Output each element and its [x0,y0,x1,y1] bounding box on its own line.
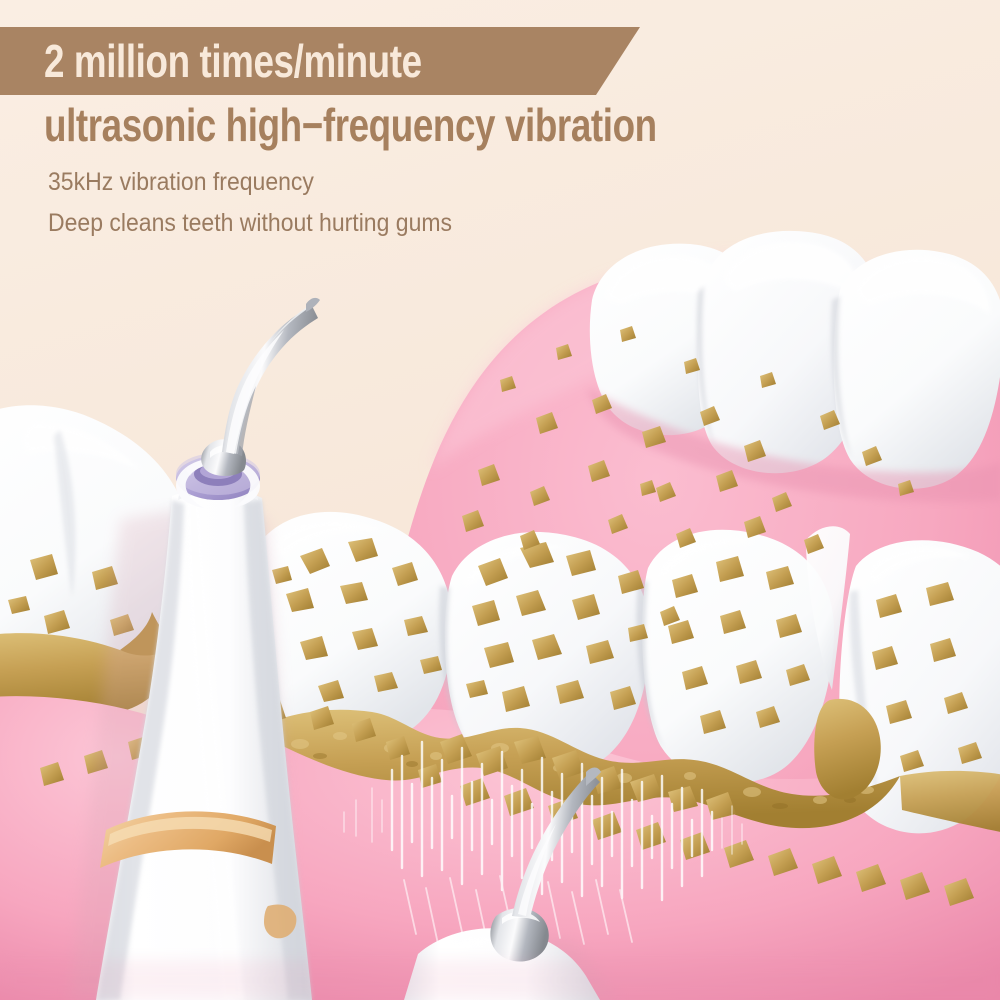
banner-label: 2 million times/minute [44,33,422,89]
headline: ultrasonic high−frequency vibration [44,98,657,152]
subtitle-line-1: 35kHz vibration frequency [48,167,314,197]
product-marketing-image: 2 million times/minute ultrasonic high−f… [0,0,1000,1000]
subtitle-line-2: Deep cleans teeth without hurting gums [48,208,452,238]
headline-text-block: 2 million times/minute ultrasonic high−f… [0,0,1000,260]
